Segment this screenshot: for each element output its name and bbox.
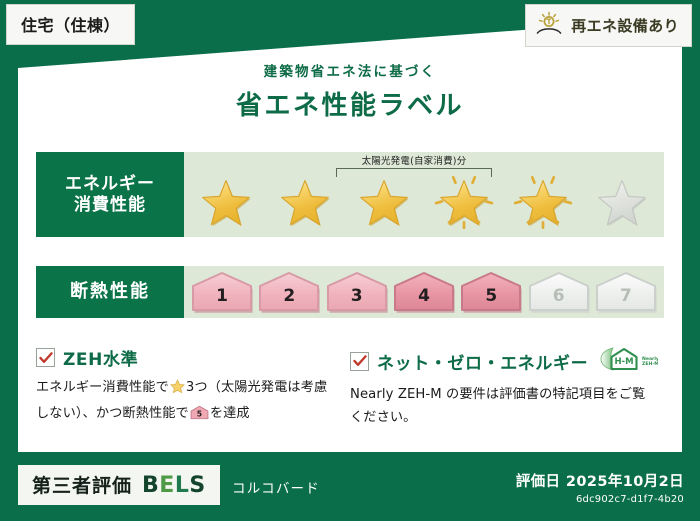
net-zero-checkbox xyxy=(350,352,369,371)
nearly-zeh-m-logo: H-M Nearly ZEH-M xyxy=(598,345,658,377)
check-icon xyxy=(39,352,53,364)
label-subtitle: 建築物省エネ法に基づく xyxy=(0,60,700,80)
company-name: コルコバード xyxy=(232,477,320,497)
net-zero-energy-column: ネット・ゼロ・エネルギー H-M Nearly ZEH- xyxy=(350,345,664,429)
star-5 xyxy=(507,171,579,233)
insulation-level-value: 2 xyxy=(257,286,321,306)
star-filled-icon xyxy=(275,173,335,231)
zeh-body-part1: エネルギー消費性能で xyxy=(36,380,169,395)
insulation-level-5: 5 xyxy=(459,270,523,314)
zeh-m-house-text: H-M xyxy=(615,357,634,367)
insulation-level-value: 4 xyxy=(392,286,456,306)
star-filled-icon xyxy=(354,173,414,231)
evaluation-meta: 評価日 2025年10月2日 6dc902c7-d1f7-4b20 xyxy=(516,470,684,505)
housing-type-badge: 住宅（住棟） xyxy=(6,4,135,45)
energy-performance-label: 住宅（住棟） 再エネ設備あり 建築物省エネ法に基づく 省エネ性能ラベル xyxy=(0,0,700,521)
net-zero-energy-heading: ネット・ゼロ・エネルギー H-M Nearly ZEH- xyxy=(350,345,650,377)
star-empty-icon xyxy=(592,173,652,231)
bels-letter-b: B xyxy=(142,473,159,498)
star-2 xyxy=(269,171,341,233)
info-columns: ZEH水準 エネルギー消費性能で3つ（太陽光発電は考慮しない）、かつ断熱性能で5… xyxy=(36,345,664,429)
insulation-level-6: 6 xyxy=(527,270,591,314)
insulation-level-2: 2 xyxy=(257,270,321,314)
star-1 xyxy=(190,171,262,233)
insulation-performance-row: 断熱性能 1234567 xyxy=(36,266,664,318)
zeh-body-part3: を達成 xyxy=(210,406,250,421)
title-block: 建築物省エネ法に基づく 省エネ性能ラベル xyxy=(0,60,700,122)
star-4 xyxy=(428,171,500,233)
insulation-level-value: 6 xyxy=(527,286,591,306)
check-icon xyxy=(353,355,367,367)
inline-star-icon xyxy=(170,383,185,398)
zeh-checkbox xyxy=(36,348,55,367)
insulation-houses-body: 1234567 xyxy=(184,266,664,318)
net-zero-body-text: Nearly ZEH-M の要件は評価書の特記項目をご覧ください。 xyxy=(350,384,650,429)
insulation-level-value: 3 xyxy=(325,286,389,306)
evaluation-id: 6dc902c7-d1f7-4b20 xyxy=(516,494,684,505)
third-party-label: 第三者評価 xyxy=(32,471,132,498)
zeh-body-text: エネルギー消費性能で3つ（太陽光発電は考慮しない）、かつ断熱性能で5を達成 xyxy=(36,377,336,428)
insulation-level-4: 4 xyxy=(392,270,456,314)
solar-sun-icon xyxy=(534,10,564,40)
bels-letter-e: E xyxy=(159,473,175,498)
inline-house-level-value: 5 xyxy=(197,409,202,418)
zeh-standard-column: ZEH水準 エネルギー消費性能で3つ（太陽光発電は考慮しない）、かつ断熱性能で5… xyxy=(36,345,350,429)
renewable-energy-label: 再エネ設備あり xyxy=(571,15,679,36)
insulation-level-value: 1 xyxy=(190,286,254,306)
label-title: 省エネ性能ラベル xyxy=(0,85,700,122)
zeh-standard-heading: ZEH水準 xyxy=(36,345,336,370)
star-filled-icon xyxy=(434,173,494,231)
star-filled-icon xyxy=(196,173,256,231)
housing-type-label: 住宅（住棟） xyxy=(21,16,120,35)
insulation-level-value: 7 xyxy=(594,286,658,306)
star-filled-icon xyxy=(513,173,573,231)
bels-footer-box: 第三者評価 BELS xyxy=(18,465,220,505)
energy-performance-row: エネルギー 消費性能 太陽光発電(自家消費)分 xyxy=(36,152,664,237)
zeh-m-caption-line2: ZEH-M xyxy=(642,361,658,367)
star-3 xyxy=(348,171,420,233)
energy-performance-label: エネルギー 消費性能 xyxy=(36,152,184,237)
energy-stars-body: 太陽光発電(自家消費)分 xyxy=(184,152,664,237)
insulation-level-scale: 1234567 xyxy=(190,269,658,315)
star-6 xyxy=(586,171,658,233)
energy-label-line1: エネルギー xyxy=(65,174,155,195)
star-rating xyxy=(190,171,658,233)
energy-label-line2: 消費性能 xyxy=(74,195,146,216)
evaluation-date: 評価日 2025年10月2日 xyxy=(516,470,684,491)
zeh-heading-text: ZEH水準 xyxy=(63,345,138,370)
bels-letter-s: S xyxy=(189,473,205,498)
inline-house-level-icon: 5 xyxy=(190,409,209,424)
insulation-level-3: 3 xyxy=(325,270,389,314)
solar-annotation-text: 太陽光発電(自家消費)分 xyxy=(336,153,492,167)
insulation-label-text: 断熱性能 xyxy=(70,281,150,303)
insulation-level-1: 1 xyxy=(190,270,254,314)
net-zero-heading-text: ネット・ゼロ・エネルギー xyxy=(377,349,588,374)
insulation-performance-label: 断熱性能 xyxy=(36,266,184,318)
bels-logo: BELS xyxy=(142,473,206,498)
insulation-level-value: 5 xyxy=(459,286,523,306)
insulation-level-7: 7 xyxy=(594,270,658,314)
bels-letter-l: L xyxy=(175,473,190,498)
renewable-energy-badge: 再エネ設備あり xyxy=(525,4,692,47)
